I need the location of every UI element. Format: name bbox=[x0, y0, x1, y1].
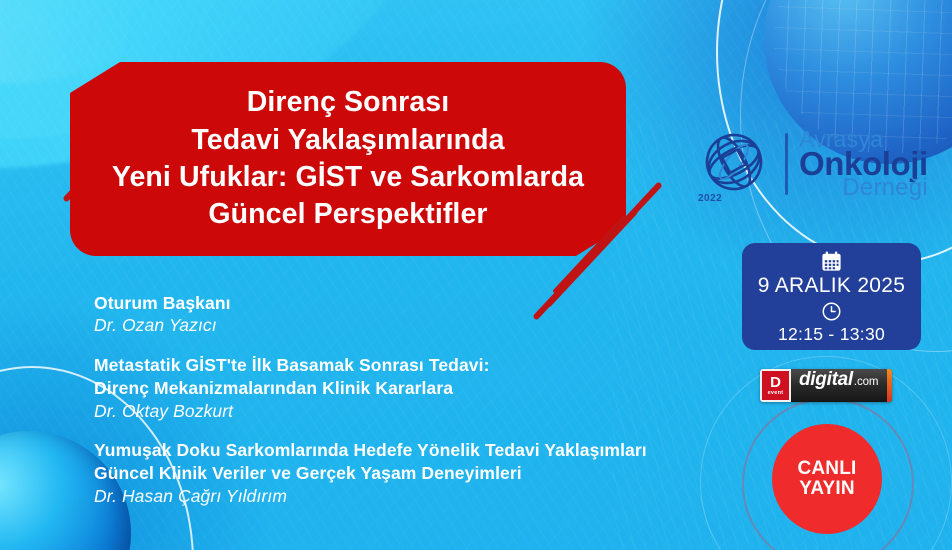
sponsor-wordmark: digital .com bbox=[791, 369, 887, 402]
title-line-1: Direnç Sonrası bbox=[112, 84, 584, 121]
association-logo: 2022 Avrasya Onkoloji Derneği bbox=[692, 118, 934, 210]
title-line-2: Tedavi Yaklaşımlarında bbox=[112, 122, 584, 159]
talk-title-line-2: Güncel Klinik Veriler ve Gerçek Yaşam De… bbox=[94, 462, 754, 485]
talk-block: Metastatik GİST'te İlk Basamak Sonrası T… bbox=[94, 354, 754, 422]
talk-speaker-name: Dr. Hasan Çağrı Yıldırım bbox=[94, 485, 754, 508]
logo-wordmark: Avrasya Onkoloji Derneği bbox=[797, 129, 928, 200]
talk-title-line-1: Yumuşak Doku Sarkomlarında Hedefe Yöneli… bbox=[94, 439, 754, 462]
talk-title-line-2: Direnç Mekanizmalarından Klinik Kararlar… bbox=[94, 377, 754, 400]
status-badge-live: CANLI YAYIN bbox=[772, 424, 882, 534]
logo-line-dernegi: Derneği bbox=[799, 177, 928, 199]
title-line-4: Güncel Perspektifler bbox=[112, 196, 584, 233]
date-time-box: 9 ARALIK 2025 12:15 - 13:30 bbox=[742, 243, 921, 350]
sponsor-badge-sub: event bbox=[768, 391, 784, 397]
session-chair-role: Oturum Başkanı bbox=[94, 292, 754, 314]
session-chair-block: Oturum Başkanı Dr. Ozan Yazıcı bbox=[94, 292, 754, 337]
page-title: Direnç Sonrası Tedavi Yaklaşımlarında Ye… bbox=[100, 84, 596, 233]
conference-poster: Direnç Sonrası Tedavi Yaklaşımlarında Ye… bbox=[0, 0, 952, 550]
logo-year: 2022 bbox=[698, 193, 722, 204]
clock-icon bbox=[821, 301, 842, 322]
session-chair-name: Dr. Ozan Yazıcı bbox=[94, 314, 754, 337]
sponsor-logo-digital: D event digital .com bbox=[760, 369, 892, 402]
title-line-3: Yeni Ufuklar: GİST ve Sarkomlarda bbox=[112, 159, 584, 196]
sponsor-badge-letter: D bbox=[770, 375, 781, 390]
live-badge-line-2: YAYIN bbox=[799, 479, 855, 499]
event-date: 9 ARALIK 2025 bbox=[758, 274, 906, 298]
calendar-icon bbox=[820, 250, 843, 273]
globe-emblem-icon: 2022 bbox=[692, 122, 776, 206]
speaker-list: Oturum Başkanı Dr. Ozan Yazıcı Metastati… bbox=[94, 292, 754, 508]
logo-divider bbox=[785, 133, 788, 195]
sponsor-edge-accent bbox=[887, 369, 892, 402]
talk-speaker-name: Dr. Oktay Bozkurt bbox=[94, 400, 754, 423]
live-badge-line-1: CANLI bbox=[797, 459, 856, 479]
sponsor-tld: .com bbox=[854, 376, 879, 388]
sponsor-name: digital bbox=[799, 369, 853, 391]
title-banner: Direnç Sonrası Tedavi Yaklaşımlarında Ye… bbox=[70, 62, 626, 256]
event-time: 12:15 - 13:30 bbox=[778, 324, 885, 345]
talk-title-line-1: Metastatik GİST'te İlk Basamak Sonrası T… bbox=[94, 354, 754, 377]
talk-block: Yumuşak Doku Sarkomlarında Hedefe Yöneli… bbox=[94, 439, 754, 507]
sponsor-d-badge-icon: D event bbox=[760, 369, 791, 402]
